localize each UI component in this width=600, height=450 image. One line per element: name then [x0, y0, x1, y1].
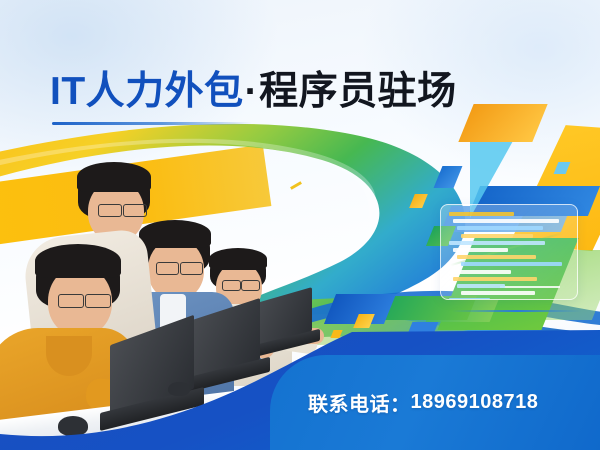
code-line — [453, 248, 508, 252]
code-line — [461, 291, 535, 295]
title-segment-dark: 程序员驻场 — [259, 70, 457, 113]
code-line — [457, 255, 536, 259]
code-line — [453, 277, 537, 281]
promo-banner: IT人力外包·程序员驻场 — [0, 0, 600, 450]
code-line — [461, 234, 533, 238]
code-line — [461, 262, 562, 266]
code-line — [449, 241, 545, 245]
contact-label: 联系电话： — [308, 388, 411, 417]
code-line — [453, 219, 559, 223]
contact-phone-number[interactable]: 18969108718 — [411, 391, 539, 414]
orange-parallelogram — [458, 104, 547, 142]
code-line — [457, 284, 505, 288]
code-panel-graphic — [440, 204, 578, 300]
title-segment-blue: IT人力外包 — [50, 70, 244, 113]
contact-banner[interactable]: 联系电话：18969108718 — [270, 355, 600, 450]
page-title: IT人力外包·程序员驻场 — [50, 72, 457, 111]
code-line — [449, 270, 511, 274]
code-line — [449, 212, 514, 216]
code-line — [449, 298, 490, 300]
code-lines — [449, 212, 569, 300]
blue-accent-line — [452, 310, 582, 312]
code-line — [457, 226, 543, 230]
title-underline — [52, 122, 252, 125]
title-separator: · — [244, 70, 260, 113]
